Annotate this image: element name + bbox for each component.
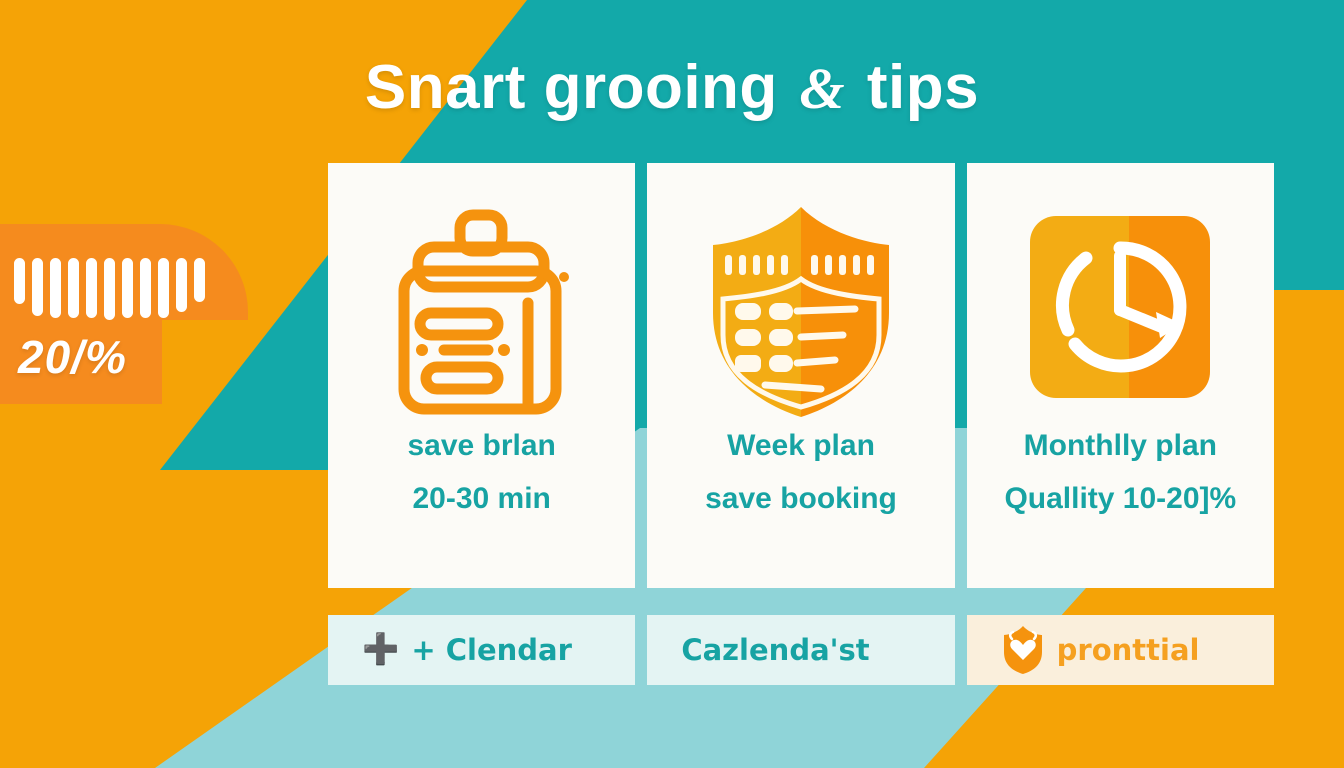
comb-teeth: [14, 258, 210, 320]
shield-calendar-icon: [705, 197, 897, 427]
tip-card-week-plan[interactable]: Week plan save booking: [647, 163, 954, 588]
footer-bar-calendar-list[interactable]: Cazlenda'st: [647, 615, 954, 685]
plus-icon[interactable]: ➕: [362, 635, 399, 665]
footer-label: pronttial: [1057, 633, 1200, 667]
footer-bar-promotional[interactable]: pronttial: [967, 615, 1274, 685]
tip-card-line2: save booking: [705, 480, 897, 517]
footer-label: Cazlenda'st: [681, 633, 869, 667]
tip-card-line1: Week plan: [705, 427, 897, 464]
footer-action-row: ➕ + Clendar Cazlenda'st pronttial: [328, 615, 1274, 685]
tips-card-row: save brlan 20-30 min: [328, 163, 1274, 588]
tip-card-text: Week plan save booking: [705, 427, 897, 517]
tip-card-text: save brlan 20-30 min: [407, 427, 555, 517]
clock-icon: [1024, 197, 1216, 427]
discount-badge: 20/%: [0, 224, 248, 404]
tip-card-line1: Monthlly plan: [1004, 427, 1236, 464]
tip-card-line2: 20-30 min: [407, 480, 555, 517]
badge-label: 20/%: [18, 330, 127, 384]
clipboard-icon: [392, 197, 572, 427]
title-text-before: Snart grooing: [365, 53, 778, 122]
tip-card-line1: save brlan: [407, 427, 555, 464]
footer-bar-calendar-add[interactable]: ➕ + Clendar: [328, 615, 635, 685]
footer-label: + Clendar: [411, 633, 572, 667]
ampersand-glyph: &: [796, 56, 850, 121]
shield-heart-icon: [1001, 624, 1045, 676]
tip-card-save-plan[interactable]: save brlan 20-30 min: [328, 163, 635, 588]
title-text-after: tips: [867, 53, 979, 122]
tip-card-line2: Quallity 10-20]%: [1004, 480, 1236, 517]
tip-card-monthly-plan[interactable]: Monthlly plan Quallity 10-20]%: [967, 163, 1274, 588]
infographic-canvas: Snart grooing & tips 20/%: [0, 0, 1344, 768]
tip-card-text: Monthlly plan Quallity 10-20]%: [1004, 427, 1236, 517]
page-title: Snart grooing & tips: [0, 52, 1344, 123]
